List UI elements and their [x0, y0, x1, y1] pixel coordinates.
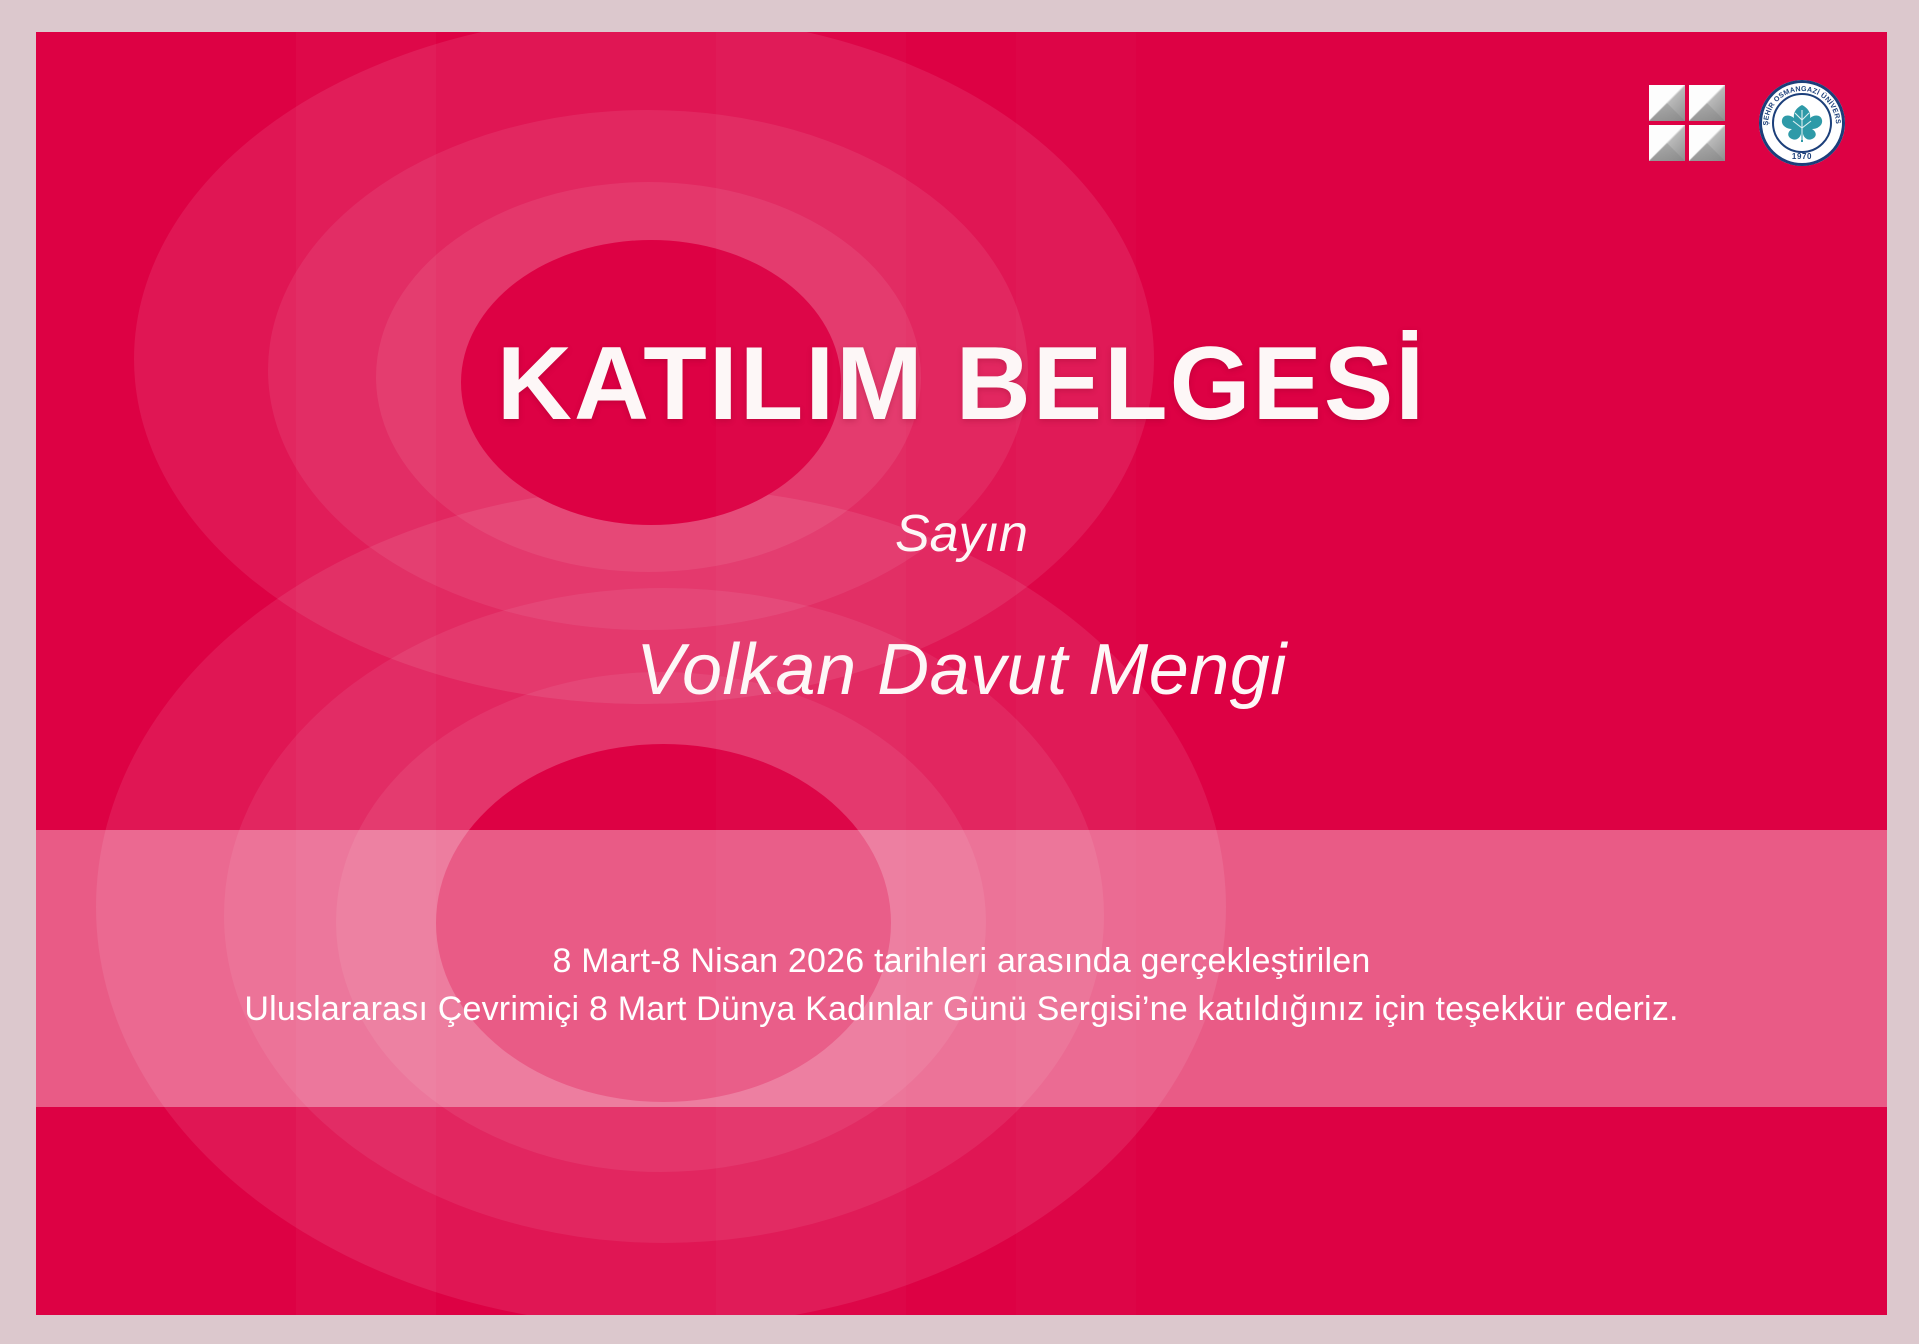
pixel-tile-bottom-left [1649, 125, 1685, 161]
certificate-body-text: 8 Mart-8 Nisan 2026 tarihleri arasında g… [36, 937, 1887, 1034]
seal-year: 1970 [1792, 152, 1812, 161]
pixel-tile-bottom-right [1689, 125, 1725, 161]
body-line-2: Uluslararası Çevrimiçi 8 Mart Dünya Kadı… [36, 985, 1887, 1033]
logo-group: ESKİŞEHİR OSMANGAZİ ÜNİVERSİTESİ 1970 [1649, 80, 1845, 166]
pixel-tile-top-left [1649, 85, 1685, 121]
salutation-label: Sayın [36, 508, 1887, 560]
recipient-name: Volkan Davut Mengi [36, 634, 1887, 706]
pixel-tile-top-right [1689, 85, 1725, 121]
esogu-university-seal-icon: ESKİŞEHİR OSMANGAZİ ÜNİVERSİTESİ 1970 [1759, 80, 1845, 166]
certificate-page: ESKİŞEHİR OSMANGAZİ ÜNİVERSİTESİ 1970 KA… [0, 0, 1919, 1344]
seal-leaf-icon [1782, 103, 1822, 142]
esogu-pixel-emblem-icon [1649, 85, 1725, 161]
body-line-1: 8 Mart-8 Nisan 2026 tarihleri arasında g… [36, 937, 1887, 985]
certificate-panel: ESKİŞEHİR OSMANGAZİ ÜNİVERSİTESİ 1970 KA… [36, 32, 1887, 1315]
certificate-title: KATILIM BELGESİ [36, 332, 1887, 436]
